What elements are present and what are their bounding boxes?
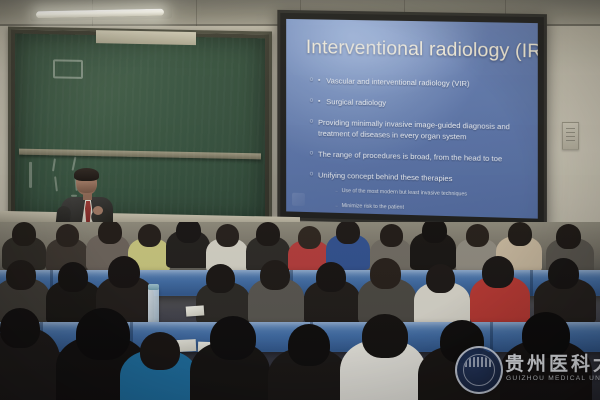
lecturer-hair bbox=[74, 168, 99, 181]
bullet-marker-icon: o bbox=[310, 75, 313, 86]
bullet-text: The range of procedures is broad, from t… bbox=[318, 149, 502, 165]
student-head bbox=[370, 258, 401, 289]
bullet-text: Providing minimally invasive image-guide… bbox=[318, 117, 514, 144]
student-head bbox=[108, 256, 140, 288]
student-head bbox=[58, 262, 88, 292]
projection-screen: Interventional radiology (IR) o ▪ Vascul… bbox=[277, 10, 547, 228]
audience-area bbox=[0, 222, 600, 400]
lecturer-hand bbox=[93, 206, 103, 215]
student-head bbox=[260, 260, 290, 290]
student-head bbox=[6, 260, 36, 290]
student-head bbox=[466, 224, 489, 247]
bullet-text: Unifying concept behind these therapies bbox=[318, 170, 452, 185]
seat-divider bbox=[530, 270, 533, 296]
chalkboard-surface bbox=[15, 34, 265, 223]
board-top-strip bbox=[96, 30, 196, 45]
ceiling-panel-line bbox=[196, 0, 197, 26]
student-head bbox=[422, 222, 447, 243]
slide-sub-bullet: – Improve health outcomes bbox=[335, 216, 525, 219]
lecture-hall-photo: Interventional radiology (IR) o ▪ Vascul… bbox=[0, 0, 600, 400]
slide-bullet-list: o ▪ Vascular and interventional radiolog… bbox=[310, 75, 526, 219]
student-head bbox=[206, 264, 235, 293]
slide-bullet: o Unifying concept behind these therapie… bbox=[310, 169, 526, 186]
student-head bbox=[176, 222, 201, 243]
student-head bbox=[508, 222, 532, 246]
projected-slide: Interventional radiology (IR) o ▪ Vascul… bbox=[286, 19, 538, 219]
seat-divider bbox=[490, 322, 493, 352]
student-head bbox=[316, 262, 346, 292]
student-head bbox=[548, 258, 579, 289]
bullet-text: Surgical radiology bbox=[326, 96, 386, 109]
sub-bullet-marker-icon: – bbox=[335, 216, 337, 219]
slide-bullet: o Providing minimally invasive image-gui… bbox=[310, 116, 526, 144]
student-head bbox=[556, 224, 581, 249]
student-head bbox=[380, 224, 403, 247]
bullet-marker-icon: o bbox=[310, 116, 313, 127]
bullet-square-icon: ▪ bbox=[318, 75, 320, 86]
student-head bbox=[362, 314, 408, 358]
student-head bbox=[210, 316, 256, 360]
student-head bbox=[440, 320, 484, 363]
slide-bullet: o The range of procedures is broad, from… bbox=[310, 149, 526, 166]
sub-bullet-marker-icon: – bbox=[335, 187, 337, 195]
bottle-cap bbox=[148, 284, 159, 290]
student-head bbox=[140, 332, 180, 370]
student-head bbox=[426, 264, 455, 293]
sub-bullet-text: Minimize risk to the patient bbox=[342, 202, 404, 212]
bullet-marker-icon: o bbox=[310, 149, 313, 160]
sub-bullet-marker-icon: – bbox=[335, 201, 337, 209]
bullet-square-icon: ▪ bbox=[318, 96, 320, 107]
slide-corner-logo-icon bbox=[292, 193, 305, 206]
bullet-text: Vascular and interventional radiology (V… bbox=[326, 75, 469, 89]
student-head bbox=[288, 324, 330, 366]
slide-sub-bullet: – Use of the most modern but least invas… bbox=[335, 187, 525, 200]
slide-bullet: o ▪ Surgical radiology bbox=[310, 96, 526, 112]
student-head bbox=[0, 308, 40, 348]
slide-sub-bullet: – Minimize risk to the patient bbox=[335, 201, 525, 215]
student-head bbox=[138, 224, 161, 247]
slide-bullet: o ▪ Vascular and interventional radiolog… bbox=[310, 75, 526, 91]
student-head bbox=[76, 308, 130, 360]
slide-title: Interventional radiology (IR) bbox=[306, 36, 538, 64]
student-head bbox=[12, 222, 36, 246]
chalk-tray-rail bbox=[19, 149, 261, 160]
student-head bbox=[98, 222, 122, 244]
chalkboard bbox=[8, 26, 272, 229]
student-head bbox=[56, 224, 79, 247]
student-head bbox=[336, 222, 360, 244]
lecturer-face-shadow bbox=[77, 182, 96, 193]
paper-sheet bbox=[186, 305, 205, 316]
wall-notice bbox=[562, 122, 579, 150]
bullet-marker-icon: o bbox=[310, 96, 313, 107]
student-head bbox=[216, 224, 239, 247]
student-head bbox=[482, 256, 514, 288]
sub-bullet-text: Improve health outcomes bbox=[342, 216, 401, 219]
bullet-marker-icon: o bbox=[310, 169, 313, 180]
student-head bbox=[256, 222, 280, 246]
chalk-mark bbox=[29, 162, 32, 188]
sub-bullet-text: Use of the most modern but least invasiv… bbox=[342, 187, 467, 199]
chalk-mark-rectangle bbox=[53, 59, 83, 79]
student-head bbox=[522, 312, 570, 358]
student-head bbox=[298, 226, 321, 249]
